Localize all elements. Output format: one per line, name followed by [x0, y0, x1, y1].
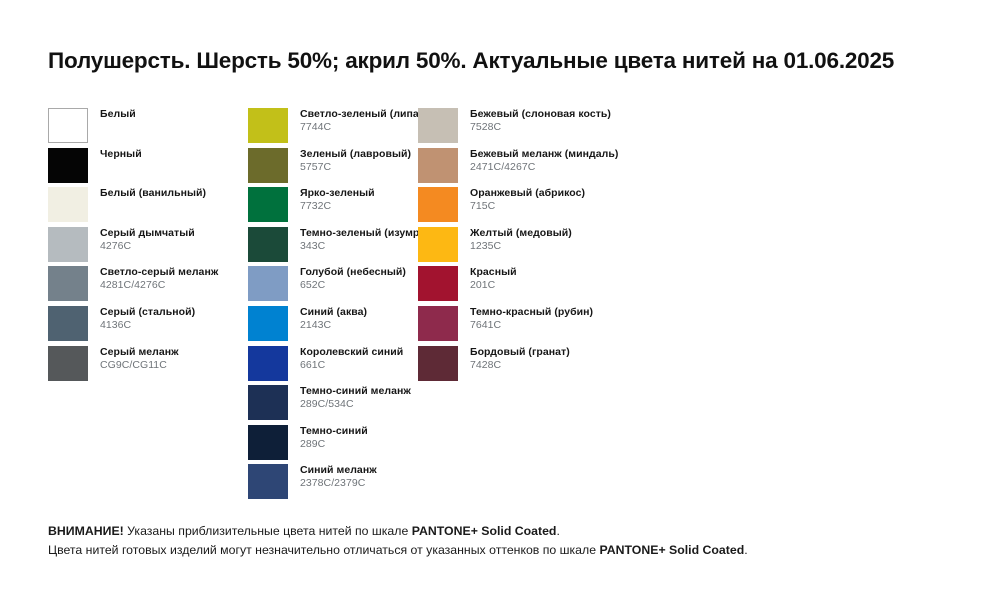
swatch-text: Желтый (медовый)1235C [470, 227, 690, 253]
color-swatch[interactable] [248, 266, 288, 301]
footer-brand-2: PANTONE+ Solid Coated [599, 543, 744, 557]
color-swatch[interactable] [248, 385, 288, 420]
swatch-text: Бежевый (слоновая кость)7528C [470, 108, 690, 134]
swatch-pantone-code: 2378C/2379C [300, 477, 520, 490]
swatch-pantone-code: 289C/534C [300, 398, 520, 411]
swatch-pantone-code: 7641C [470, 319, 690, 332]
color-card-page: Полушерсть. Шерсть 50%; акрил 50%. Актуа… [0, 0, 1000, 609]
footer-attention-label: ВНИМАНИЕ! [48, 524, 124, 538]
swatch-text: Синий меланж2378C/2379C [300, 464, 520, 490]
swatch-name: Темно-красный (рубин) [470, 306, 690, 319]
swatch-text: Оранжевый (абрикос)715C [470, 187, 690, 213]
color-swatch[interactable] [418, 108, 458, 143]
color-swatch[interactable] [248, 187, 288, 222]
color-swatch[interactable] [248, 425, 288, 460]
color-swatch[interactable] [248, 306, 288, 341]
swatch-pantone-code: 7528C [470, 121, 690, 134]
footer-line-1-text: Указаны приблизительные цвета нитей по ш… [124, 524, 412, 538]
color-swatch[interactable] [248, 227, 288, 262]
color-swatch[interactable] [418, 266, 458, 301]
color-swatch[interactable] [48, 108, 88, 143]
color-swatch[interactable] [248, 148, 288, 183]
footer-line-1: ВНИМАНИЕ! Указаны приблизительные цвета … [48, 522, 968, 541]
swatch-text: Темно-красный (рубин)7641C [470, 306, 690, 332]
color-swatch[interactable] [248, 108, 288, 143]
color-swatch[interactable] [418, 306, 458, 341]
swatch-pantone-code: 1235C [470, 240, 690, 253]
footer-line-2: Цвета нитей готовых изделий могут незнач… [48, 541, 968, 560]
swatch-name: Темно-синий меланж [300, 385, 520, 398]
swatch-pantone-code: 289C [300, 438, 520, 451]
color-swatch[interactable] [48, 266, 88, 301]
swatch-name: Бежевый (слоновая кость) [470, 108, 690, 121]
footer-line-1-end: . [556, 524, 559, 538]
color-swatch[interactable] [48, 227, 88, 262]
color-swatch[interactable] [248, 464, 288, 499]
swatch-pantone-code: 7428C [470, 359, 690, 372]
color-swatch[interactable] [418, 346, 458, 381]
color-swatch[interactable] [418, 227, 458, 262]
footer-notes: ВНИМАНИЕ! Указаны приблизительные цвета … [48, 522, 968, 560]
swatch-text: Темно-синий меланж289C/534C [300, 385, 520, 411]
swatch-name: Синий меланж [300, 464, 520, 477]
swatch-name: Бордовый (гранат) [470, 346, 690, 359]
swatch-text: Красный201C [470, 266, 690, 292]
color-swatch[interactable] [48, 346, 88, 381]
page-title: Полушерсть. Шерсть 50%; акрил 50%. Актуа… [48, 48, 978, 74]
color-swatch[interactable] [248, 346, 288, 381]
swatch-text: Бежевый меланж (миндаль)2471C/4267C [470, 148, 690, 174]
swatch-name: Темно-синий [300, 425, 520, 438]
swatch-name: Оранжевый (абрикос) [470, 187, 690, 200]
color-swatch[interactable] [48, 148, 88, 183]
swatch-name: Красный [470, 266, 690, 279]
swatch-text: Темно-синий289C [300, 425, 520, 451]
color-swatch[interactable] [48, 187, 88, 222]
swatch-name: Желтый (медовый) [470, 227, 690, 240]
footer-brand-1: PANTONE+ Solid Coated [412, 524, 557, 538]
color-swatch[interactable] [418, 148, 458, 183]
swatch-pantone-code: 201C [470, 279, 690, 292]
swatch-text: Бордовый (гранат)7428C [470, 346, 690, 372]
swatch-pantone-code: 715C [470, 200, 690, 213]
swatch-pantone-code: 2471C/4267C [470, 161, 690, 174]
footer-line-2-end: . [744, 543, 747, 557]
swatch-name: Бежевый меланж (миндаль) [470, 148, 690, 161]
color-swatch[interactable] [418, 187, 458, 222]
footer-line-2-text: Цвета нитей готовых изделий могут незнач… [48, 543, 599, 557]
color-swatch[interactable] [48, 306, 88, 341]
